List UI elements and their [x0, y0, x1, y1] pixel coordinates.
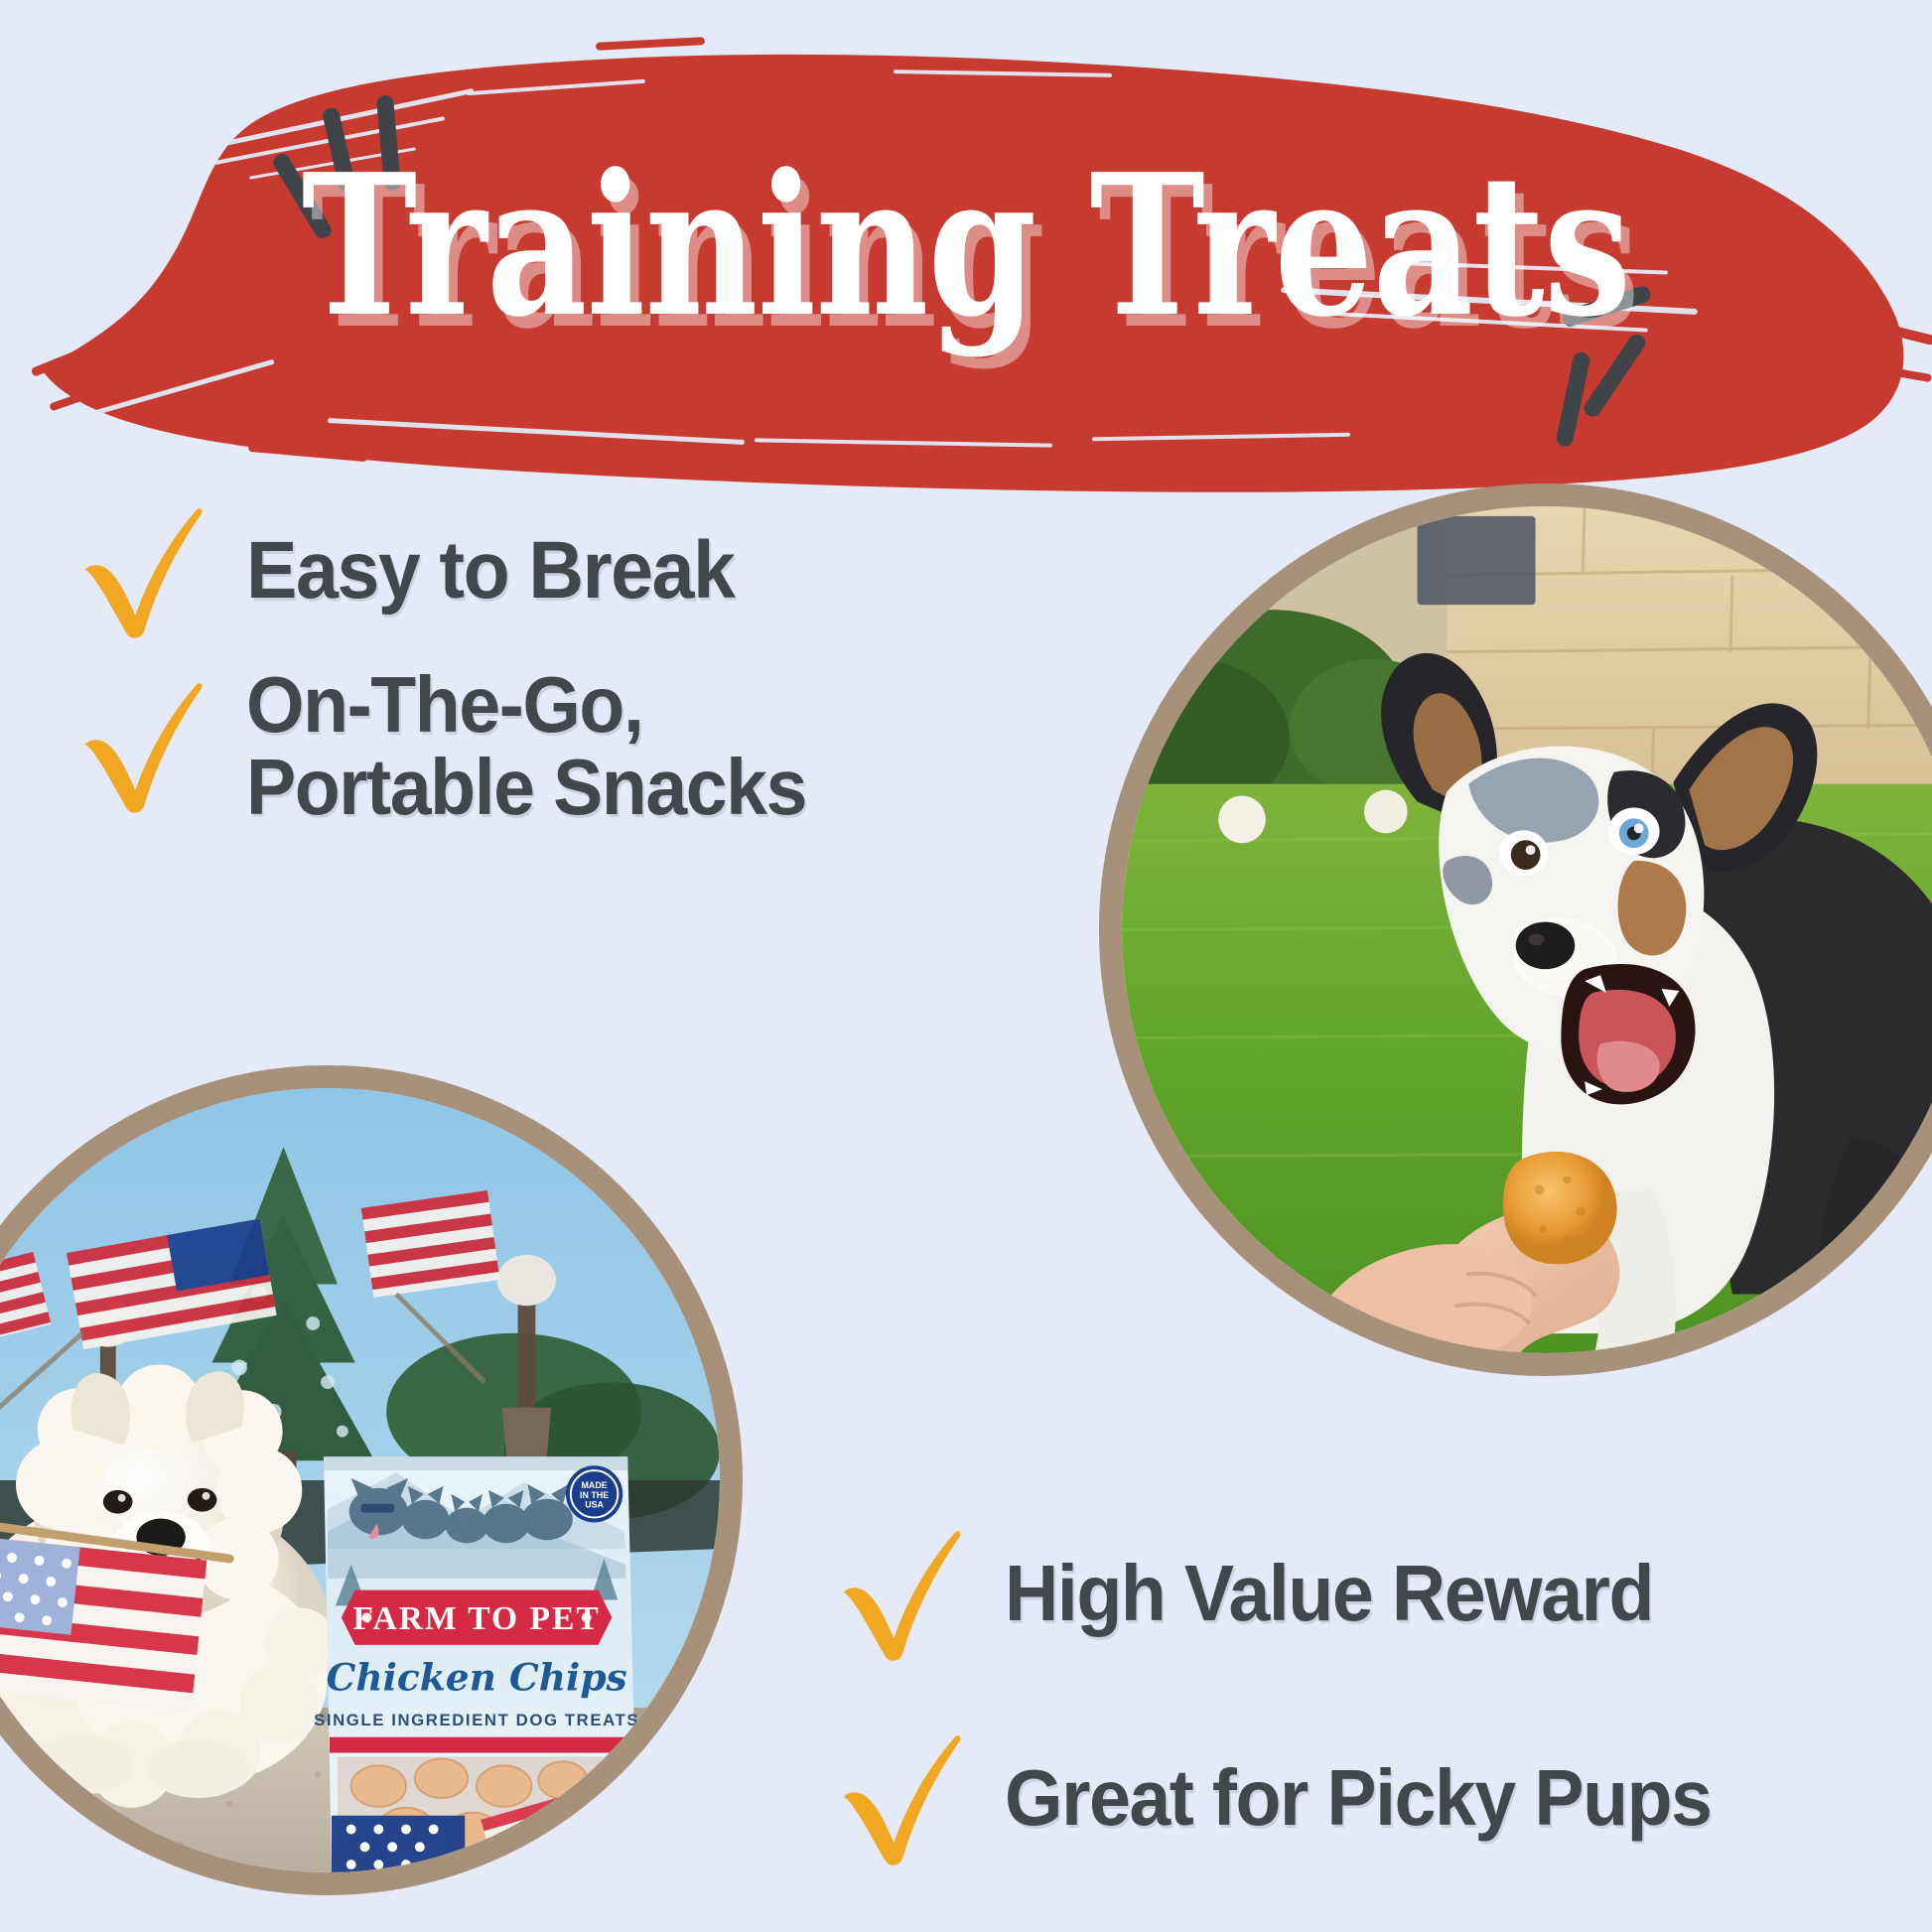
package-product-text: Chicken Chips — [327, 1655, 627, 1699]
package-net-weight-text: Net Wt. 4oz (113g) — [467, 1854, 565, 1867]
header-banner: Training Treats — [0, 0, 1932, 516]
chicken-chip-treat — [1503, 1152, 1617, 1265]
package-brand-text: FARM TO PET — [352, 1600, 600, 1637]
photo-inner — [1122, 506, 1932, 1353]
feature-item-high-value-reward: High Value Reward — [830, 1519, 1695, 1668]
photo-inner: MADE IN THE USA FARM TO PET Chicken Chip… — [0, 1088, 720, 1872]
dog-catching-treat-illustration — [1122, 506, 1932, 1353]
svg-text:USA: USA — [585, 1500, 604, 1510]
pomeranian-with-package-illustration: MADE IN THE USA FARM TO PET Chicken Chip… — [0, 1088, 720, 1872]
page-title: Training Treats — [194, 149, 1739, 344]
product-package: MADE IN THE USA FARM TO PET Chicken Chip… — [314, 1456, 646, 1872]
feature-label: High Value Reward — [1005, 1552, 1653, 1634]
feature-item-on-the-go: On-The-Go, Portable Snacks — [71, 663, 842, 828]
feature-label: Easy to Break — [246, 528, 735, 613]
check-icon — [71, 671, 220, 820]
feature-label: On-The-Go, Portable Snacks — [246, 663, 806, 828]
check-icon — [71, 496, 220, 645]
feature-label: Great for Picky Pups — [1005, 1756, 1712, 1839]
feature-item-easy-to-break: Easy to Break — [71, 496, 765, 645]
svg-text:MADE: MADE — [582, 1480, 608, 1490]
package-tagline-text: SINGLE INGREDIENT DOG TREATS — [314, 1711, 639, 1729]
marketing-graphic-canvas: Training Treats Easy to Break On-The-Go,… — [0, 0, 1932, 1932]
feature-item-great-for-picky-pups: Great for Picky Pups — [830, 1724, 1756, 1872]
photo-pomeranian-with-package: MADE IN THE USA FARM TO PET Chicken Chip… — [0, 1065, 743, 1895]
check-icon — [830, 1724, 979, 1872]
check-icon — [830, 1519, 979, 1668]
svg-text:IN THE: IN THE — [580, 1490, 609, 1500]
photo-dog-catching-treat — [1099, 483, 1932, 1376]
